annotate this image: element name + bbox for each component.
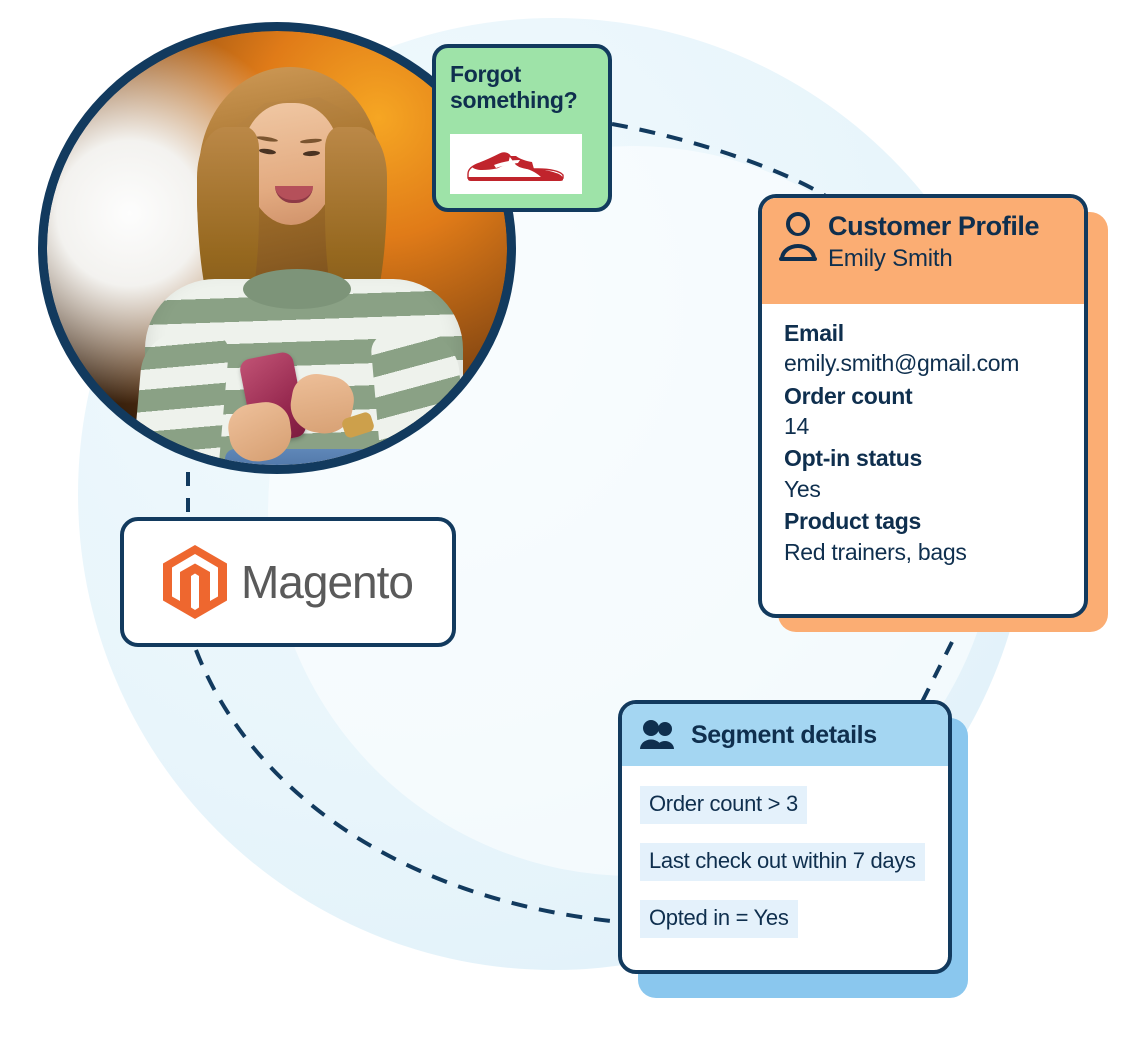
forgot-title-line-1: Forgot	[450, 62, 594, 88]
photo-sweater-collar	[243, 269, 351, 309]
field-label-product-tags: Product tags	[784, 506, 1066, 536]
field-label-email: Email	[784, 318, 1066, 348]
segment-title: Segment details	[691, 721, 877, 750]
magento-card[interactable]: Magento	[120, 517, 456, 647]
segment-rule-last-checkout: Last check out within 7 days	[640, 843, 925, 881]
profile-customer-name: Emily Smith	[828, 245, 1039, 273]
field-value-email: emily.smith@gmail.com	[784, 348, 1066, 378]
field-value-optin-status: Yes	[784, 474, 1066, 504]
people-group-icon	[638, 720, 678, 750]
magento-logo-icon	[163, 545, 227, 619]
segment-details-card: Segment details Order count > 3 Last che…	[618, 700, 952, 974]
field-value-product-tags: Red trainers, bags	[784, 537, 1066, 567]
customer-profile-card: Customer Profile Emily Smith Email emily…	[758, 194, 1088, 618]
segment-rule-opted-in: Opted in = Yes	[640, 900, 798, 938]
segment-rule-order-count: Order count > 3	[640, 786, 807, 824]
field-label-optin-status: Opt-in status	[784, 443, 1066, 473]
magento-label: Magento	[241, 555, 413, 609]
sneaker-icon	[464, 148, 568, 182]
profile-title: Customer Profile	[828, 212, 1039, 242]
field-value-order-count: 14	[784, 411, 1066, 441]
segment-rule-row: Order count > 3	[640, 786, 948, 843]
segment-rule-row: Opted in = Yes	[640, 900, 948, 957]
field-label-order-count: Order count	[784, 381, 1066, 411]
forgot-product-image	[450, 134, 582, 194]
segment-card-header: Segment details	[622, 704, 948, 766]
person-icon	[778, 211, 818, 263]
forgot-something-card: Forgot something?	[432, 44, 612, 212]
segment-card-body: Order count > 3 Last check out within 7 …	[622, 766, 948, 957]
forgot-title: Forgot something?	[450, 62, 594, 114]
diagram-canvas: Forgot something? C	[0, 0, 1140, 1040]
forgot-title-line-2: something?	[450, 88, 594, 114]
profile-card-body: Email emily.smith@gmail.com Order count …	[762, 304, 1084, 567]
profile-card-header: Customer Profile Emily Smith	[762, 198, 1084, 304]
profile-header-text: Customer Profile Emily Smith	[828, 211, 1039, 273]
segment-rule-row: Last check out within 7 days	[640, 843, 948, 900]
